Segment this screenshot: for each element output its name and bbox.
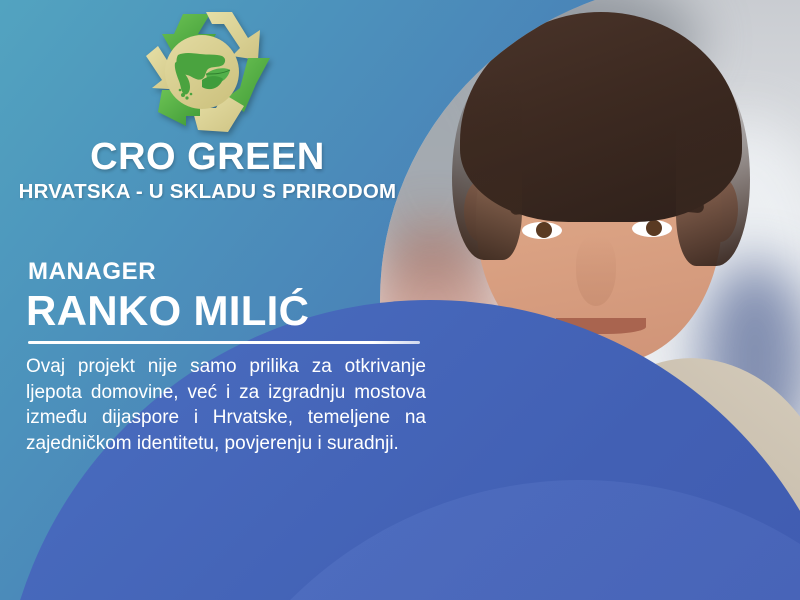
bio-text: Ovaj projekt nije samo prilika za otkriv…: [26, 354, 426, 456]
pupil-right: [646, 220, 662, 236]
profile-card: CRO GREEN HRVATSKA - U SKLADU S PRIRODOM…: [0, 0, 800, 600]
role-label: MANAGER: [28, 258, 156, 286]
person-name: RANKO MILIĆ: [26, 287, 309, 335]
pupil-left: [536, 222, 552, 238]
brand-tagline: HRVATSKA - U SKLADU S PRIRODOM: [0, 180, 415, 204]
recycling-croatia-leaf-logo-icon: [128, 8, 278, 138]
divider: [28, 341, 420, 344]
hair-side-right: [676, 76, 750, 266]
page-title: CRO GREEN: [0, 136, 415, 179]
nose: [576, 236, 616, 306]
hair-side-left: [452, 80, 522, 260]
